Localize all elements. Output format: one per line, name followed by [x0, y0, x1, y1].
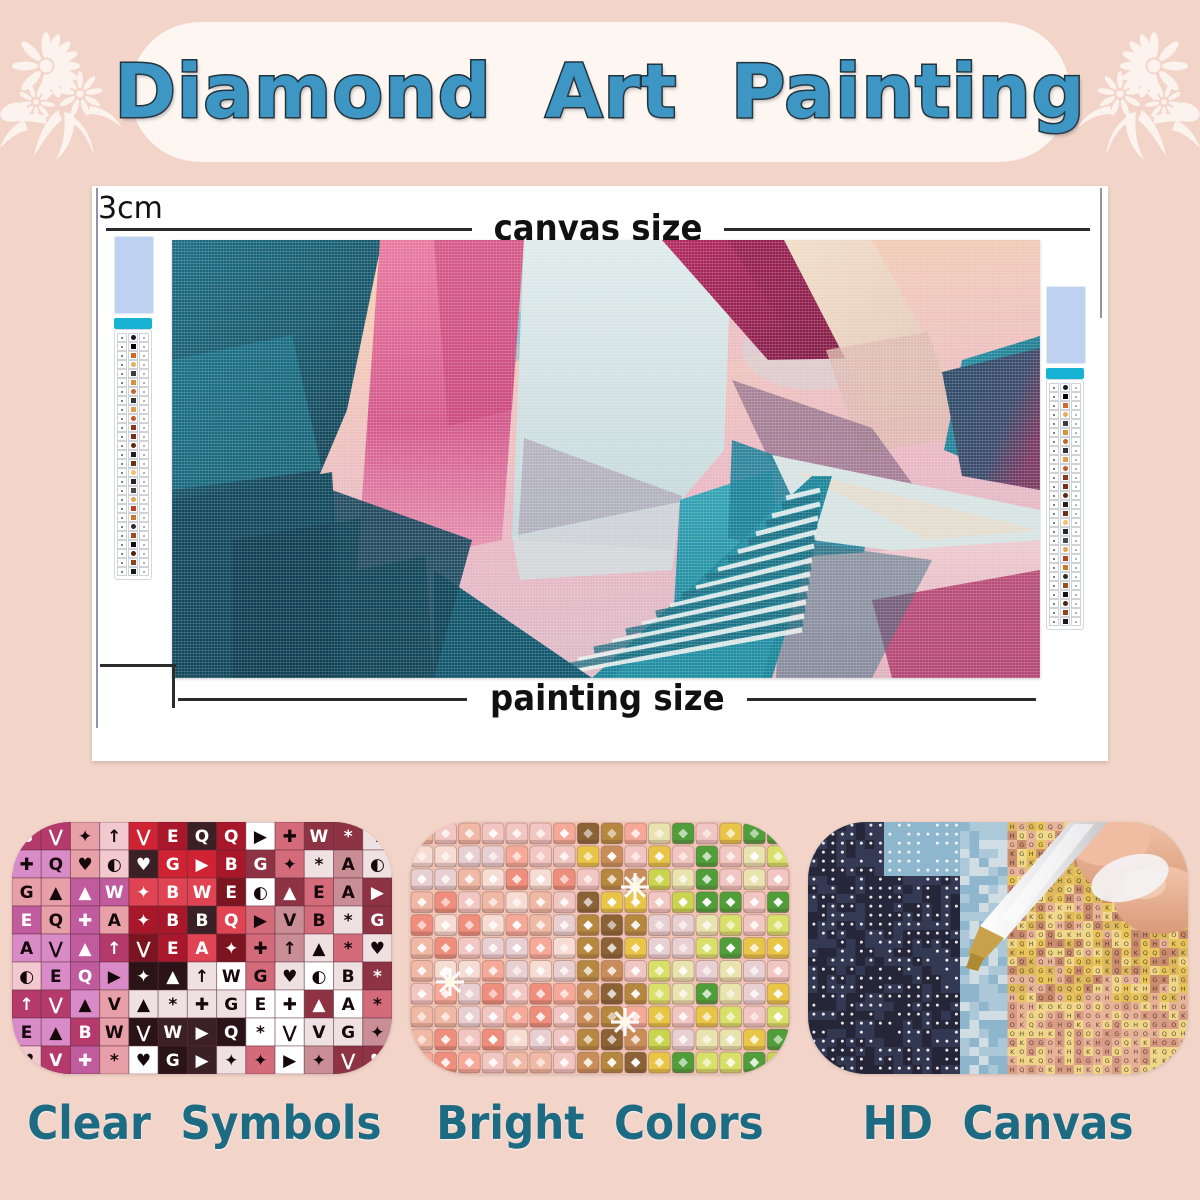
- chart-swatch-mark: [121, 373, 123, 375]
- chart-swatch-mark: [1075, 495, 1077, 497]
- symbol-glyph: ✦: [136, 911, 150, 931]
- chart-swatch-mark: [1075, 477, 1077, 479]
- chart-swatch-mark: [131, 569, 136, 574]
- bead-cell: [577, 846, 599, 867]
- chart-row: [1047, 527, 1083, 536]
- chart-swatch-mark: [1053, 432, 1055, 434]
- chart-swatch-cell: [139, 342, 149, 351]
- chart-swatch-cell: [1049, 536, 1059, 545]
- symbol-glyph: A: [342, 883, 356, 903]
- canvas-print-cell: [1169, 822, 1179, 831]
- chart-swatch-cell: [1049, 437, 1059, 446]
- chart-swatch-cell: [1049, 599, 1059, 608]
- painting-size-measure: painting size: [178, 682, 1036, 716]
- chart-swatch-mark: [131, 371, 136, 376]
- chart-swatch-cell: [139, 351, 149, 360]
- chart-swatch-cell: [139, 522, 149, 531]
- chart-swatch-mark: [131, 479, 136, 484]
- chart-swatch-list: [1046, 379, 1084, 630]
- chart-row: [1047, 473, 1083, 482]
- chart-swatch-cell: [117, 396, 127, 405]
- chart-swatch-mark: [1063, 403, 1068, 408]
- symbol-glyph: ✚: [195, 995, 209, 1015]
- chart-swatch-cell: [1060, 536, 1070, 545]
- bead-cell: [411, 1006, 433, 1027]
- chart-swatch-cell: [117, 459, 127, 468]
- bead-cell: [696, 869, 718, 890]
- artwork-preview: [172, 240, 1040, 678]
- chart-swatch-cell: [117, 477, 127, 486]
- symbol-glyph: B: [196, 911, 209, 931]
- chart-swatch-cell: [1071, 401, 1081, 410]
- symbol-glyph: V: [312, 1023, 326, 1043]
- bead-cell: [672, 960, 694, 981]
- chart-swatch-cell: [139, 360, 149, 369]
- chart-row: [1047, 455, 1083, 464]
- chart-swatch-cell: [1071, 392, 1081, 401]
- chart-swatch-cell: [139, 432, 149, 441]
- chart-swatch-cell: [1060, 599, 1070, 608]
- chart-row: [115, 540, 151, 549]
- chart-swatch-mark: [1063, 484, 1068, 489]
- chart-swatch-cell: [1071, 491, 1081, 500]
- chart-swatch-mark: [121, 544, 123, 546]
- symbol-glyph: ⋁: [136, 827, 151, 847]
- canvas-print-cell: [818, 1065, 828, 1074]
- bead-cell: [577, 938, 599, 959]
- chart-swatch-mark: [1063, 421, 1068, 426]
- chart-swatch-mark: [131, 542, 136, 547]
- bead-cell: [744, 892, 766, 913]
- chart-swatch-cell: [128, 477, 138, 486]
- chart-swatch-mark: [1053, 495, 1055, 497]
- symbol-glyph: ♥: [77, 855, 92, 875]
- chart-swatch-mark: [1063, 547, 1068, 552]
- chart-swatch-mark: [1053, 549, 1055, 551]
- bead-cell: [577, 823, 599, 844]
- chart-swatch-cell: [1049, 581, 1059, 590]
- symbol-glyph: ✦: [370, 1023, 384, 1043]
- chart-swatch-cell: [128, 459, 138, 468]
- chart-swatch-cell: [1071, 572, 1081, 581]
- chart-swatch-cell: [1049, 572, 1059, 581]
- chart-swatch-cell: [1049, 491, 1059, 500]
- chart-swatch-cell: [117, 567, 127, 576]
- bead-cell: [601, 1029, 623, 1050]
- bead-cell: [720, 892, 742, 913]
- symbol-glyph: ▲: [312, 995, 326, 1015]
- chart-swatch-mark: [1053, 567, 1055, 569]
- bead-cell: [672, 846, 694, 867]
- symbol-glyph: ⋁: [283, 1023, 298, 1043]
- chart-swatch-mark: [1075, 576, 1077, 578]
- chart-swatch-cell: [1060, 563, 1070, 572]
- chart-swatch-cell: [1049, 383, 1059, 392]
- chart-swatch-mark: [121, 355, 123, 357]
- symbol-glyph: ⋁: [49, 939, 64, 959]
- chart-row: [1047, 581, 1083, 590]
- bead-cell: [459, 823, 481, 844]
- chart-swatch-cell: [117, 405, 127, 414]
- symbol-glyph: ♥: [136, 855, 151, 875]
- symbol-glyph: G: [166, 855, 180, 875]
- chart-row: [115, 405, 151, 414]
- chart-swatch-cell: [1049, 518, 1059, 527]
- chart-swatch-mark: [1063, 493, 1068, 498]
- bead-cell: [625, 915, 647, 936]
- chart-swatch-mark: [131, 524, 136, 529]
- symbol-glyph: ▶: [195, 1051, 209, 1071]
- chart-swatch-cell: [1049, 527, 1059, 536]
- chart-swatch-cell: [128, 513, 138, 522]
- chart-swatch-cell: [117, 549, 127, 558]
- chart-swatch-cell: [1060, 473, 1070, 482]
- canvas-print-cell: [1179, 822, 1189, 831]
- chart-swatch-mark: [143, 355, 145, 357]
- bead-cell: [435, 1029, 457, 1050]
- symbol-glyph: ⋁: [136, 939, 151, 959]
- chart-swatch-mark: [143, 391, 145, 393]
- chart-swatch-mark: [1053, 396, 1055, 398]
- bead-cell: [649, 960, 671, 981]
- bead-cell: [625, 1029, 647, 1050]
- bead-cell: [435, 823, 457, 844]
- chart-swatch-mark: [143, 526, 145, 528]
- chart-swatch-mark: [1075, 558, 1077, 560]
- bead-cell: [767, 983, 789, 1004]
- bead-cell: [625, 1052, 647, 1073]
- bead-cell: [625, 960, 647, 981]
- bead-cell: [767, 1006, 789, 1027]
- chart-swatch-mark: [143, 382, 145, 384]
- chart-swatch-mark: [1075, 504, 1077, 506]
- bead-cell: [720, 1029, 742, 1050]
- chart-swatch-cell: [1060, 491, 1070, 500]
- chart-row: [115, 450, 151, 459]
- chart-swatch-cell: [1060, 500, 1070, 509]
- bead-cell: [482, 823, 504, 844]
- chart-swatch-cell: [139, 495, 149, 504]
- chart-swatch-cell: [117, 333, 127, 342]
- chart-row: [1047, 428, 1083, 437]
- feature-caption-2: HD Canvas: [823, 1096, 1173, 1150]
- bead-cell: [459, 1029, 481, 1050]
- chart-swatch-mark: [1053, 513, 1055, 515]
- chart-row: [115, 351, 151, 360]
- bead-highlight: [812, 824, 815, 827]
- chart-swatch-mark: [121, 427, 123, 429]
- measure-line-left: [178, 698, 467, 701]
- bead-cell: [554, 846, 576, 867]
- bead-cell: [482, 960, 504, 981]
- bead-cell: [506, 869, 528, 890]
- chart-row: [115, 369, 151, 378]
- bead-highlight: [831, 1067, 834, 1070]
- chart-swatch-mark: [131, 434, 136, 439]
- chart-swatch-mark: [131, 398, 136, 403]
- chart-swatch-mark: [1053, 486, 1055, 488]
- measure-line-right: [724, 228, 1090, 231]
- chart-swatch-mark: [131, 425, 136, 430]
- bead-cell: [672, 892, 694, 913]
- chart-swatch-mark: [121, 472, 123, 474]
- symbol-glyph: A: [195, 939, 209, 959]
- chart-swatch-mark: [143, 445, 145, 447]
- symbol-glyph: G: [341, 1023, 355, 1043]
- chart-swatch-cell: [1049, 455, 1059, 464]
- chart-swatch-mark: [1053, 558, 1055, 560]
- bead-cell: [459, 1052, 481, 1073]
- chart-swatch-mark: [143, 436, 145, 438]
- bead-cell: [506, 1029, 528, 1050]
- chart-row: [115, 486, 151, 495]
- chart-swatch-cell: [139, 387, 149, 396]
- chart-swatch-mark: [143, 427, 145, 429]
- chart-row: [1047, 446, 1083, 455]
- chart-swatch-mark: [131, 407, 136, 412]
- canvas-print-symbol: Q: [1162, 823, 1167, 831]
- bead-cell: [530, 823, 552, 844]
- chart-swatch-mark: [1063, 385, 1068, 390]
- painting-size-label: painting size: [481, 681, 734, 717]
- chart-swatch-mark: [1063, 520, 1068, 525]
- chart-swatch-cell: [1071, 518, 1081, 527]
- chart-swatch-cell: [128, 423, 138, 432]
- chart-swatch-mark: [1075, 531, 1077, 533]
- bead-cell: [720, 1052, 742, 1073]
- chart-swatch-cell: [1060, 554, 1070, 563]
- feature-caption-0: Clear Symbols: [27, 1096, 377, 1150]
- chart-swatch-cell: [1071, 581, 1081, 590]
- bead-cell: [411, 869, 433, 890]
- bead-cell: [530, 892, 552, 913]
- bead-highlight: [822, 833, 825, 836]
- chart-swatch-mark: [143, 517, 145, 519]
- symbol-glyph: ♥: [19, 1051, 34, 1071]
- bead-cell: [530, 846, 552, 867]
- chart-swatch-cell: [1071, 545, 1081, 554]
- chart-top-block: [1046, 286, 1086, 364]
- chart-swatch-mark: [143, 346, 145, 348]
- bead-cell: [459, 938, 481, 959]
- symbol-glyph: ♥: [370, 1051, 385, 1071]
- chart-swatch-mark: [131, 416, 136, 421]
- symbol-glyph: E: [50, 967, 62, 987]
- symbol-glyph: *: [110, 1051, 119, 1071]
- bead-highlight: [812, 1049, 815, 1052]
- chart-swatch-cell: [117, 432, 127, 441]
- symbol-glyph: ⋁: [49, 827, 64, 847]
- bead-cell: [625, 846, 647, 867]
- chart-swatch-mark: [121, 571, 123, 573]
- chart-swatch-cell: [128, 333, 138, 342]
- symbol-glyph: ⋁: [341, 1051, 356, 1071]
- chart-swatch-cell: [1071, 563, 1081, 572]
- symbol-glyph: B: [166, 911, 179, 931]
- symbol-glyph: ✦: [136, 967, 150, 987]
- chart-swatch-cell: [1060, 383, 1070, 392]
- symbol-glyph: W: [193, 883, 212, 903]
- bead-cell: [601, 823, 623, 844]
- chart-swatch-cell: [139, 450, 149, 459]
- chart-swatch-cell: [128, 468, 138, 477]
- chart-row: [115, 468, 151, 477]
- bead-cell: [744, 915, 766, 936]
- chart-row: [1047, 509, 1083, 518]
- chart-swatch-cell: [1060, 509, 1070, 518]
- chart-swatch-mark: [1063, 466, 1068, 471]
- chart-swatch-cell: [128, 387, 138, 396]
- symbol-glyph: B: [225, 855, 238, 875]
- bead-highlight: [831, 824, 834, 827]
- chart-swatch-mark: [121, 445, 123, 447]
- chart-row: [115, 504, 151, 513]
- chart-swatch-mark: [131, 488, 136, 493]
- chart-swatch-mark: [1053, 621, 1055, 623]
- chart-row: [115, 522, 151, 531]
- bead-cell: [767, 892, 789, 913]
- symbol-glyph: *: [344, 939, 353, 959]
- canvas-print-cell: [808, 831, 818, 840]
- bead-cell: [506, 938, 528, 959]
- chart-header-band: [114, 318, 152, 329]
- symbol-glyph: ♥: [282, 967, 297, 987]
- canvas-print-cell: [818, 822, 828, 831]
- diamond-beads-thumbnail: [410, 822, 790, 1074]
- symbol-glyph: V: [49, 1051, 63, 1071]
- chart-swatch-mark: [121, 517, 123, 519]
- bead-cell: [744, 1052, 766, 1073]
- chart-swatch-mark: [1053, 423, 1055, 425]
- canvas-print-symbol: Q: [1171, 832, 1176, 840]
- chart-swatch-mark: [143, 364, 145, 366]
- chart-swatch-mark: [143, 409, 145, 411]
- chart-row: [1047, 419, 1083, 428]
- chart-swatch-cell: [128, 351, 138, 360]
- bead-cell: [506, 1052, 528, 1073]
- bead-cell: [696, 915, 718, 936]
- symbol-glyph: Q: [78, 967, 92, 987]
- chart-swatch-mark: [131, 380, 136, 385]
- symbol-glyph: Q: [224, 827, 238, 847]
- chart-row: [115, 558, 151, 567]
- chart-swatch-mark: [1075, 387, 1077, 389]
- chart-swatch-mark: [1075, 441, 1077, 443]
- chart-swatch-cell: [1060, 590, 1070, 599]
- bead-facet-highlight: [417, 829, 427, 839]
- chart-swatch-cell: [128, 549, 138, 558]
- symbol-glyph: *: [373, 967, 382, 987]
- chart-swatch-cell: [1071, 482, 1081, 491]
- chart-swatch-cell: [139, 567, 149, 576]
- chart-swatch-mark: [121, 391, 123, 393]
- chart-swatch-mark: [1063, 565, 1068, 570]
- chart-row: [115, 333, 151, 342]
- symbol-glyph: ↑: [107, 827, 121, 847]
- margin-bracket: [100, 664, 176, 710]
- chart-swatch-mark: [131, 362, 136, 367]
- chart-row: [115, 423, 151, 432]
- chart-swatch-mark: [143, 481, 145, 483]
- bead-cell: [601, 960, 623, 981]
- chart-swatch-cell: [139, 405, 149, 414]
- bead-cell: [482, 892, 504, 913]
- chart-swatch-mark: [1075, 585, 1077, 587]
- chart-swatch-cell: [128, 396, 138, 405]
- chart-swatch-cell: [1060, 617, 1070, 626]
- chart-swatch-cell: [139, 513, 149, 522]
- chart-swatch-mark: [121, 337, 123, 339]
- chart-swatch-cell: [117, 441, 127, 450]
- symbol-glyph: ▲: [79, 883, 93, 903]
- chart-row: [115, 549, 151, 558]
- bead-cell: [720, 915, 742, 936]
- chart-swatch-cell: [139, 468, 149, 477]
- chart-swatch-mark: [1053, 585, 1055, 587]
- chart-swatch-mark: [1053, 441, 1055, 443]
- chart-swatch-cell: [1071, 410, 1081, 419]
- bead-cell: [459, 892, 481, 913]
- chart-swatch-mark: [1075, 522, 1077, 524]
- chart-swatch-mark: [1053, 414, 1055, 416]
- chart-swatch-mark: [1075, 486, 1077, 488]
- symbol-glyph: *: [168, 995, 177, 1015]
- bead-cell: [411, 1052, 433, 1073]
- chart-swatch-mark: [1063, 610, 1068, 615]
- bead-cell: [554, 915, 576, 936]
- symbol-glyph: ✦: [224, 1051, 238, 1071]
- symbol-glyph: W: [310, 827, 329, 847]
- feature-caption-1: Bright Colors: [425, 1096, 775, 1150]
- chart-swatch-mark: [1063, 394, 1068, 399]
- bead-cell: [720, 1006, 742, 1027]
- symbol-glyph: *: [344, 827, 353, 847]
- symbol-glyph: ✦: [283, 855, 297, 875]
- symbol-glyph: ✚: [78, 911, 92, 931]
- symbol-glyph: ◐: [312, 967, 327, 987]
- chart-row: [1047, 437, 1083, 446]
- chart-row: [115, 360, 151, 369]
- canvas-print-symbol: H: [1181, 1057, 1186, 1065]
- canvas-print-symbol: G: [1181, 1066, 1186, 1074]
- canvas-print-cell: [1179, 840, 1189, 849]
- symbol-glyph: Q: [49, 855, 63, 875]
- chart-swatch-mark: [121, 553, 123, 555]
- bead-cell: [530, 960, 552, 981]
- bead-cell: [649, 846, 671, 867]
- chart-swatch-mark: [131, 461, 136, 466]
- chart-top-block: [114, 236, 154, 314]
- bead-cell: [577, 1052, 599, 1073]
- bead-cell: [554, 869, 576, 890]
- chart-swatch-cell: [139, 531, 149, 540]
- chart-swatch-mark: [143, 373, 145, 375]
- chart-swatch-mark: [121, 436, 123, 438]
- symbol-glyph: ▶: [254, 827, 268, 847]
- bead-cell: [672, 823, 694, 844]
- symbol-glyph: W: [163, 1023, 182, 1043]
- chart-swatch-mark: [1053, 594, 1055, 596]
- chart-row: [115, 495, 151, 504]
- canvas-print-cell: [1169, 1065, 1179, 1074]
- bead-cell: [411, 938, 433, 959]
- chart-swatch-cell: [128, 504, 138, 513]
- symbol-glyph: V: [108, 995, 122, 1015]
- bead-cell: [459, 983, 481, 1004]
- chart-swatch-mark: [1063, 430, 1068, 435]
- symbol-glyph: A: [342, 995, 356, 1015]
- chart-swatch-cell: [139, 396, 149, 405]
